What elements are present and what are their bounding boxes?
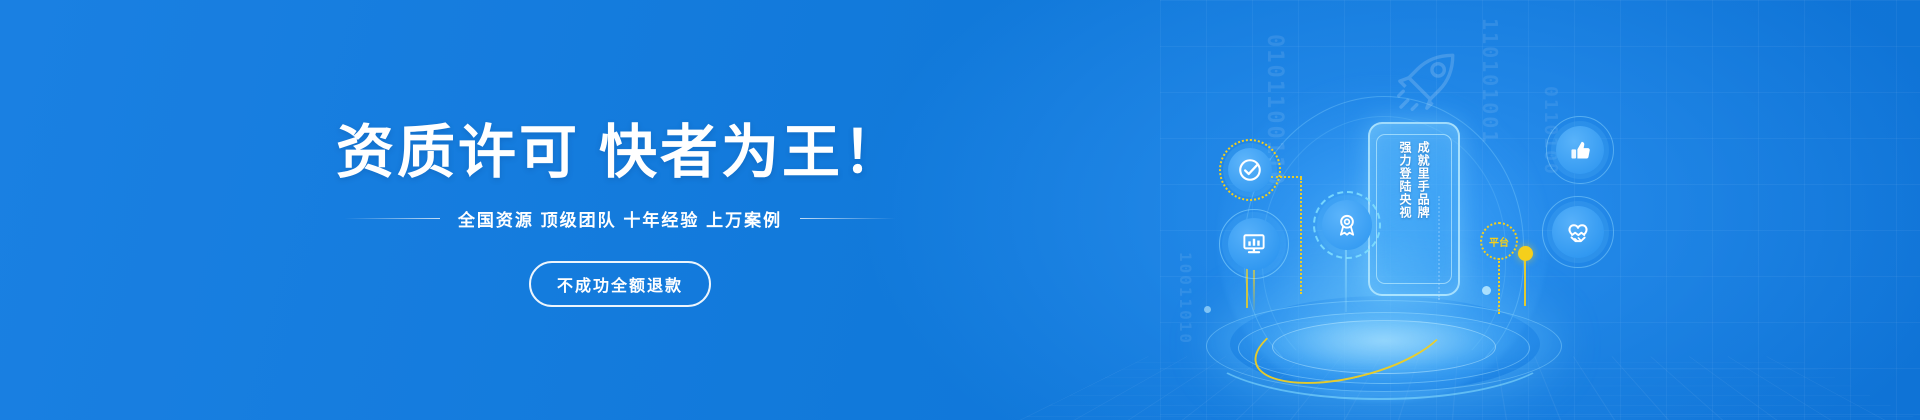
- promo-banner: 0101100110 110101001 0110100 10011010 成就…: [0, 0, 1920, 420]
- banner-subtitle-row: 全国资源 顶级团队 十年经验 上万案例: [344, 206, 896, 231]
- banner-title: 资质许可 快者为王！: [336, 121, 904, 185]
- dotted-connector-vertical: [1300, 178, 1302, 294]
- thumbs-up-icon: [1556, 126, 1604, 174]
- subtitle-divider-right: [800, 218, 896, 219]
- dotted-connector-elbow: [1271, 176, 1302, 178]
- tablet-text-left: 强力登陆央视: [1398, 141, 1412, 283]
- background-grid: [1160, 0, 1920, 420]
- banner-subtitle: 全国资源 顶级团队 十年经验 上万案例: [458, 206, 782, 231]
- platform-disc-outer: [1206, 300, 1562, 392]
- medal-award-icon: [1322, 200, 1372, 250]
- banner-content: 资质许可 快者为王！ 全国资源 顶级团队 十年经验 上万案例 不成功全额退款: [0, 0, 1240, 420]
- platform-pin-label: 平台: [1489, 234, 1509, 249]
- accent-dot-1: [1482, 286, 1491, 295]
- yellow-dot-pin: [1518, 246, 1533, 261]
- yellow-ring-pin-stem: [1246, 264, 1248, 308]
- yellow-dot-pin-stem: [1524, 260, 1526, 306]
- tablet-device: 成就里手品牌 强力登陆央视: [1368, 122, 1460, 296]
- platform-pin-stem: [1498, 258, 1500, 314]
- refund-guarantee-button[interactable]: 不成功全额退款: [529, 261, 711, 307]
- binary-digits-3: 0110100: [1540, 86, 1561, 176]
- pin-lead-line: [1253, 268, 1255, 310]
- tablet-text-right: 成就里手品牌: [1416, 141, 1430, 283]
- platform-pin-badge: 平台: [1480, 222, 1518, 260]
- platform-glow: [1230, 296, 1540, 392]
- binary-digits-2: 110101001: [1478, 18, 1502, 144]
- handshake-heart-icon: [1552, 206, 1604, 258]
- tablet-screen: 成就里手品牌 强力登陆央视: [1376, 134, 1452, 284]
- subtitle-divider-left: [344, 218, 440, 219]
- rocket-icon: [1392, 44, 1464, 116]
- platform-disc-inner: [1272, 320, 1496, 374]
- platform-disc-middle: [1238, 312, 1530, 384]
